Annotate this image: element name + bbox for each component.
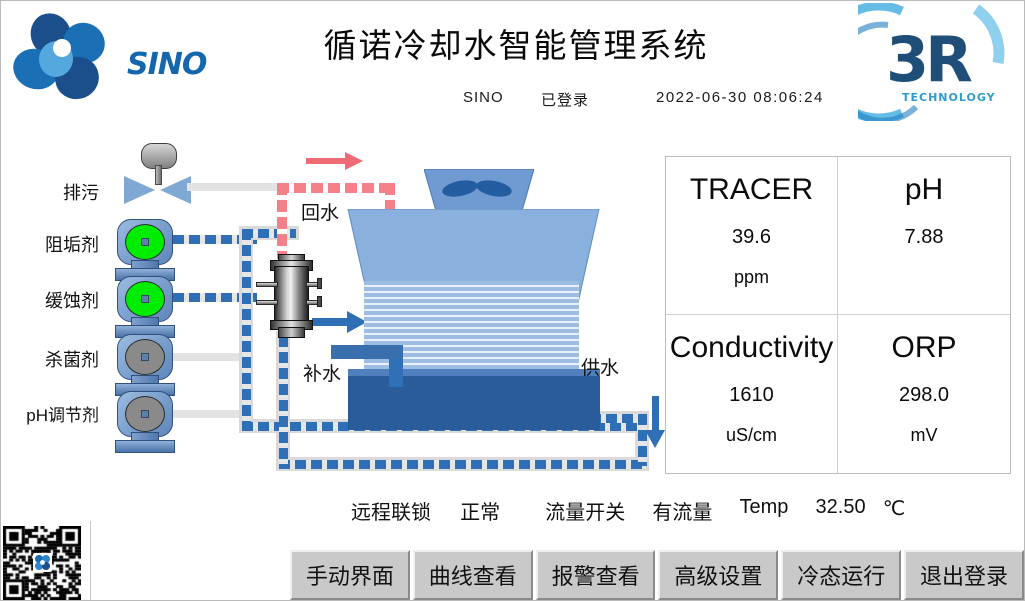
pump-lamp-center-icon: [141, 410, 149, 418]
cooling-tower: [346, 169, 601, 424]
readout-tracer[interactable]: TRACER 39.6 ppm: [666, 157, 838, 315]
water-analyzer-vessel[interactable]: [266, 252, 316, 340]
measurement-panel: TRACER 39.6 ppm pH 7.88 Conductivity 161…: [665, 156, 1011, 474]
flow-switch-label: 流量开关: [545, 496, 625, 525]
readout-ph[interactable]: pH 7.88: [838, 157, 1010, 315]
alarm-view-button[interactable]: 报警查看: [536, 550, 656, 600]
readout-unit: ppm: [734, 267, 769, 288]
pipe-return-left-vertical: [277, 183, 287, 259]
readout-conductivity[interactable]: Conductivity 1610 uS/cm: [666, 315, 838, 473]
analyzer-body-icon: [274, 266, 309, 326]
qr-code[interactable]: [3, 526, 81, 600]
qr-center-logo-icon: [33, 553, 52, 572]
manual-interface-button[interactable]: 手动界面: [290, 550, 410, 600]
session-status: SINO 已登录 2022-06-30 08:06:24: [301, 89, 861, 113]
pipe-supply-left-vertical: [242, 229, 251, 425]
temp-label: Temp: [740, 496, 789, 519]
pipe-blowdown-line: [187, 183, 287, 191]
trend-view-button[interactable]: 曲线查看: [413, 550, 533, 600]
status-strip: 远程联锁 正常 流量开关 有流量 Temp 32.50 ℃: [351, 496, 905, 524]
session-login: 已登录: [541, 89, 589, 110]
readout-value: 39.6: [732, 226, 771, 249]
pipe-return-bottom: [279, 460, 646, 469]
readout-value: 298.0: [899, 384, 949, 407]
sino-wordmark: SINO: [127, 47, 206, 82]
readout-orp[interactable]: ORP 298.0 mV: [838, 315, 1010, 473]
readout-unit: uS/cm: [726, 425, 777, 446]
flow-switch-value: 有流量: [652, 496, 712, 525]
chem-label-corrosion-inhibitor: 缓蚀剂: [9, 287, 99, 313]
advanced-settings-button[interactable]: 高级设置: [658, 550, 778, 600]
left-divider: [90, 521, 91, 601]
label-supply-water: 供水: [581, 353, 619, 380]
sino-logo: SINO: [9, 9, 259, 114]
pump-base-icon: [115, 440, 175, 453]
pump-lamp-center-icon: [141, 238, 149, 246]
blowdown-valve-icon[interactable]: [121, 143, 195, 203]
pipe-analyzer-downcomer: [279, 336, 288, 466]
chem-label-blowdown: 排污: [19, 179, 99, 205]
logout-button[interactable]: 退出登录: [904, 550, 1024, 600]
analyzer-nozzle-left-upper-icon: [256, 282, 278, 287]
readout-name: Conductivity: [670, 331, 833, 364]
3r-technology-logo: 3R TECHNOLOGY: [858, 3, 1018, 121]
navigation-button-bar: 手动界面 曲线查看 报警查看 高级设置 冷态运行 退出登录: [290, 550, 1024, 600]
temp-value: 32.50: [816, 496, 866, 519]
analyzer-foot-icon: [278, 327, 305, 338]
pump-corrosion-inhibitor[interactable]: [111, 276, 177, 338]
label-return-water: 回水: [301, 198, 339, 225]
pump-ph-adjuster[interactable]: [111, 391, 177, 453]
page-title: 循诺冷却水智能管理系统: [301, 19, 731, 67]
readout-unit: mV: [911, 425, 938, 446]
readout-value: 1610: [729, 384, 774, 407]
label-makeup-water: 补水: [303, 359, 341, 386]
readout-name: pH: [905, 173, 943, 206]
analyzer-nozzle-cap-upper-icon: [317, 278, 322, 289]
analyzer-nozzle-left-lower-icon: [256, 300, 278, 305]
temp-unit: ℃: [883, 496, 905, 521]
chem-label-ph-adjuster: pH调节剂: [0, 401, 99, 426]
tower-basin-icon: [348, 369, 600, 430]
pump-biocide[interactable]: [111, 334, 177, 396]
session-user: SINO: [463, 89, 504, 106]
cold-start-run-button[interactable]: 冷态运行: [781, 550, 901, 600]
valve-body-left-icon: [124, 176, 155, 204]
tower-fan-hood-icon: [424, 169, 534, 211]
3r-tagline: TECHNOLOGY: [902, 91, 996, 104]
readout-name: TRACER: [690, 173, 813, 206]
chem-label-antiscalant: 阻垢剂: [9, 231, 99, 257]
makeup-inlet-header: [331, 345, 403, 359]
pump-lamp-center-icon: [141, 295, 149, 303]
chem-label-biocide: 杀菌剂: [9, 346, 99, 372]
pump-antiscalant[interactable]: [111, 219, 177, 281]
readout-name: ORP: [891, 331, 956, 364]
hmi-screen: SINO 循诺冷却水智能管理系统 SINO 已登录 2022-06-30 08:…: [0, 0, 1025, 601]
3r-wordmark: 3R: [886, 23, 969, 96]
remote-interlock-label: 远程联锁: [351, 496, 431, 525]
remote-interlock-value: 正常: [460, 496, 500, 525]
readout-value: 7.88: [905, 226, 944, 249]
pump-lamp-center-icon: [141, 353, 149, 361]
session-datetime: 2022-06-30 08:06:24: [656, 89, 824, 106]
analyzer-nozzle-cap-lower-icon: [317, 296, 322, 307]
header-bar: SINO 循诺冷却水智能管理系统 SINO 已登录 2022-06-30 08:…: [1, 1, 1024, 129]
